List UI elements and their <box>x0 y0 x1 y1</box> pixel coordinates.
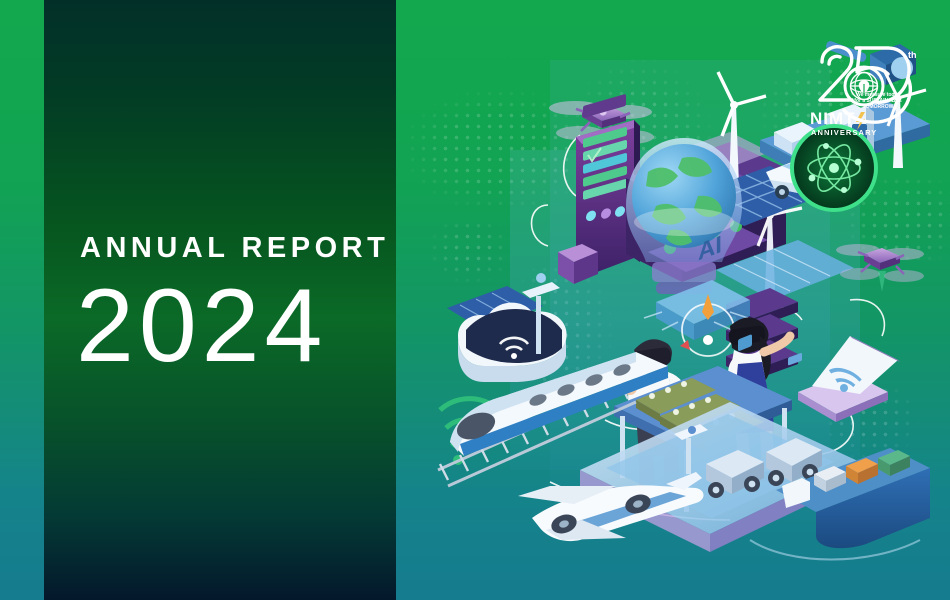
title-panel: ANNUAL REPORT 2024 <box>44 0 396 600</box>
page-title-year: 2024 <box>76 272 327 381</box>
logo-ordinal: th <box>908 50 917 60</box>
logo-org-name: NIMT <box>810 109 856 128</box>
logo-tagline-line3: TOMORROW <box>863 104 894 110</box>
page-title-label: ANNUAL REPORT <box>80 232 389 265</box>
logo-subtitle: ANNIVERSARY <box>811 128 877 137</box>
nimt-anniversary-logo: th NIMT ANNIVERSARY We measure today for… <box>804 34 926 140</box>
annual-report-cover: AI <box>0 0 950 600</box>
